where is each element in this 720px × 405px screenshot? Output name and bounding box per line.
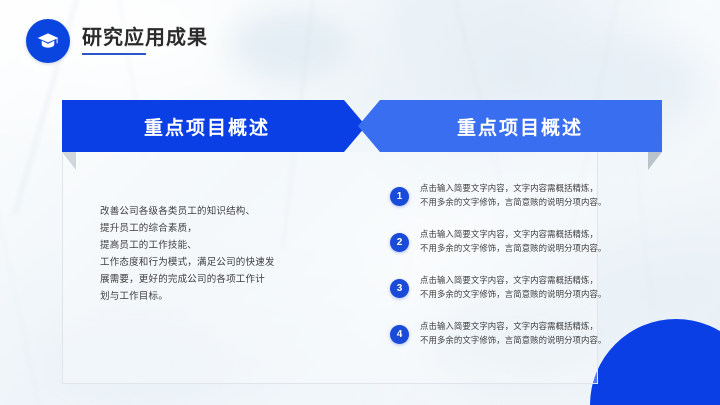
- list-item-line: 不用多余的文字修饰，言简意赅的说明分项内容。: [420, 242, 606, 256]
- list-item-line: 不用多余的文字修饰，言简意赅的说明分项内容。: [420, 288, 606, 302]
- list-item[interactable]: 1 点击输入简要文字内容，文字内容需概括精炼， 不用多余的文字修饰，言简意赅的说…: [390, 182, 650, 212]
- slide-canvas: 研究应用成果 重点项目概述 重点项目概述 改善公司各级各类员工的知识结构、 提升…: [0, 0, 720, 405]
- left-paragraph: 改善公司各级各类员工的知识结构、 提升员工的综合素质， 提高员工的工作技能、 工…: [100, 203, 305, 305]
- list-item[interactable]: 3 点击输入简要文字内容，文字内容需概括精炼， 不用多余的文字修饰，言简意赅的说…: [390, 274, 650, 304]
- list-item-text: 点击输入简要文字内容，文字内容需概括精炼， 不用多余的文字修饰，言简意赅的说明分…: [420, 274, 606, 301]
- list-item-line: 点击输入简要文字内容，文字内容需概括精炼，: [420, 182, 606, 196]
- numbered-list: 1 点击输入简要文字内容，文字内容需概括精炼， 不用多余的文字修饰，言简意赅的说…: [390, 182, 650, 366]
- paragraph-line: 划与工作目标。: [100, 288, 305, 305]
- list-item-text: 点击输入简要文字内容，文字内容需概括精炼， 不用多余的文字修饰，言简意赅的说明分…: [420, 228, 606, 255]
- paragraph-line: 提高员工的工作技能、: [100, 237, 305, 254]
- list-item-line: 点击输入简要文字内容，文字内容需概括精炼，: [420, 320, 606, 334]
- list-item-number: 3: [390, 279, 409, 298]
- banner-left[interactable]: 重点项目概述: [62, 100, 366, 152]
- paragraph-line: 展需要，更好的完成公司的各项工作计: [100, 271, 305, 288]
- paragraph-line: 工作态度和行为模式，满足公司的快速发: [100, 254, 305, 271]
- banner-right[interactable]: 重点项目概述: [358, 100, 662, 152]
- banner-row: 重点项目概述 重点项目概述: [62, 100, 662, 152]
- list-item-line: 点击输入简要文字内容，文字内容需概括精炼，: [420, 228, 606, 242]
- banner-right-label: 重点项目概述: [457, 113, 583, 140]
- title-underline: [82, 53, 146, 55]
- list-item-number: 2: [390, 233, 409, 252]
- background-blotch: [230, 10, 350, 80]
- banner-left-label: 重点项目概述: [144, 113, 270, 140]
- list-item-line: 不用多余的文字修饰，言简意赅的说明分项内容。: [420, 196, 606, 210]
- header-badge: [26, 19, 70, 63]
- banner-fold-right: [648, 152, 662, 170]
- list-item-text: 点击输入简要文字内容，文字内容需概括精炼， 不用多余的文字修饰，言简意赅的说明分…: [420, 182, 606, 209]
- paragraph-line: 改善公司各级各类员工的知识结构、: [100, 203, 305, 220]
- list-item-text: 点击输入简要文字内容，文字内容需概括精炼， 不用多余的文字修饰，言简意赅的说明分…: [420, 320, 606, 347]
- list-item[interactable]: 2 点击输入简要文字内容，文字内容需概括精炼， 不用多余的文字修饰，言简意赅的说…: [390, 228, 650, 258]
- list-item-line: 不用多余的文字修饰，言简意赅的说明分项内容。: [420, 334, 606, 348]
- page-title-wrap: 研究应用成果: [82, 28, 208, 55]
- slide-header: 研究应用成果: [26, 19, 208, 63]
- graduation-cap-icon: [35, 28, 61, 54]
- list-item-number: 1: [390, 187, 409, 206]
- list-item-line: 点击输入简要文字内容，文字内容需概括精炼，: [420, 274, 606, 288]
- list-item[interactable]: 4 点击输入简要文字内容，文字内容需概括精炼， 不用多余的文字修饰，言简意赅的说…: [390, 320, 650, 350]
- page-title: 研究应用成果: [82, 28, 208, 48]
- list-item-number: 4: [390, 325, 409, 344]
- paragraph-line: 提升员工的综合素质，: [100, 220, 305, 237]
